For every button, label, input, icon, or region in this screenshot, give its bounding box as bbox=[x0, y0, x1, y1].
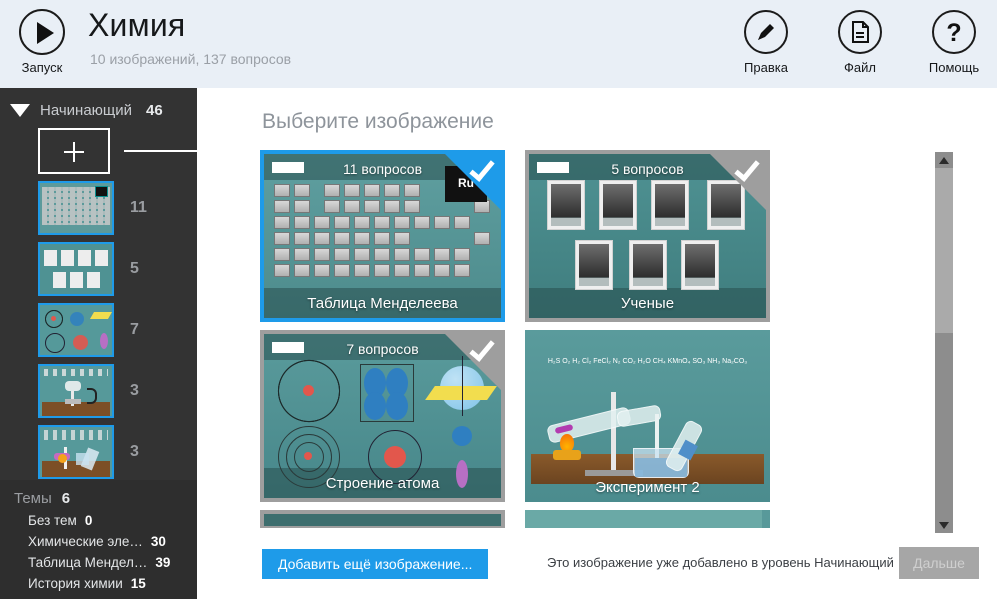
list-item[interactable]: 3 bbox=[0, 418, 197, 479]
svg-text:?: ? bbox=[946, 19, 961, 47]
triangle-down-icon[interactable] bbox=[10, 104, 30, 117]
image-card-partial[interactable] bbox=[525, 510, 770, 528]
theme-row[interactable]: Таблица Мендел… 39 bbox=[14, 555, 197, 570]
theme-value: 30 bbox=[151, 534, 166, 549]
edit-label: Правка bbox=[731, 60, 801, 75]
image-grid: Ru 11 вопросов Таблица Менделеева bbox=[260, 150, 790, 598]
play-icon[interactable] bbox=[19, 9, 65, 55]
thumbnail-count: 3 bbox=[130, 382, 139, 400]
thumbnail-experiment-1[interactable] bbox=[38, 364, 114, 418]
thumbnail-count: 5 bbox=[130, 260, 139, 278]
thumbnail-count: 3 bbox=[130, 443, 139, 461]
question-icon: ? bbox=[931, 9, 977, 55]
list-item[interactable]: 11 bbox=[0, 174, 197, 235]
theme-row[interactable]: Химические эле… 30 bbox=[14, 534, 197, 549]
added-check-ribbon bbox=[445, 334, 501, 390]
themes-count: 6 bbox=[62, 490, 70, 507]
theme-value: 39 bbox=[155, 555, 170, 570]
main-content: Выберите изображение bbox=[197, 88, 997, 599]
add-image-thumb[interactable] bbox=[0, 124, 197, 174]
scroll-up-arrow-icon[interactable] bbox=[935, 152, 953, 168]
section-title: Выберите изображение bbox=[262, 110, 494, 134]
page-subtitle: 10 изображений, 137 вопросов bbox=[90, 51, 291, 67]
list-item[interactable]: 7 bbox=[0, 296, 197, 357]
image-card-atom[interactable]: 7 вопросов Строение атома bbox=[260, 330, 505, 502]
file-icon bbox=[837, 9, 883, 55]
page-title: Химия bbox=[88, 7, 185, 44]
theme-row[interactable]: История химии 15 bbox=[14, 576, 197, 591]
thumbnail-experiment-2[interactable] bbox=[38, 425, 114, 479]
thumbnail-count: 7 bbox=[130, 321, 139, 339]
theme-label: Химические эле… bbox=[28, 534, 143, 549]
help-button[interactable]: ? Помощь bbox=[919, 9, 989, 75]
formula-list: H₂S O₂ H₂ Cl₂ FeCl₂ N₂ CO₂ H₂O CH₄ KMnO₄… bbox=[533, 356, 762, 368]
level-header[interactable]: Начинающий 46 bbox=[0, 88, 197, 124]
app-window: Запуск Химия 10 изображений, 137 вопросо… bbox=[0, 0, 997, 599]
file-label: Файл bbox=[825, 60, 895, 75]
themes-panel: Темы 6 Без тем 0 Химические эле… 30 Табл… bbox=[0, 480, 197, 599]
card-title: Эксперимент 2 bbox=[525, 479, 770, 496]
footer-bar: Добавить ещё изображение... Это изображе… bbox=[197, 533, 997, 599]
theme-label: Без тем bbox=[28, 513, 77, 528]
level-count: 46 bbox=[146, 102, 163, 119]
theme-value: 15 bbox=[131, 576, 146, 591]
launch-button[interactable]: Запуск bbox=[14, 9, 70, 75]
thumbnail-periodic[interactable] bbox=[38, 181, 114, 235]
theme-value: 0 bbox=[85, 513, 93, 528]
level-name: Начинающий bbox=[40, 102, 132, 119]
theme-label: Таблица Мендел… bbox=[28, 555, 147, 570]
themes-header: Темы 6 bbox=[14, 490, 197, 507]
list-item[interactable]: 5 bbox=[0, 235, 197, 296]
theme-label: История химии bbox=[28, 576, 123, 591]
thumbnail-atom[interactable] bbox=[38, 303, 114, 357]
launch-label: Запуск bbox=[14, 60, 70, 75]
card-title: Строение атома bbox=[264, 475, 501, 492]
header-toolbar: Правка Файл ? Помощь bbox=[731, 9, 989, 75]
theme-row[interactable]: Без тем 0 bbox=[14, 513, 197, 528]
image-card-experiment-2[interactable]: H₂S O₂ H₂ Cl₂ FeCl₂ N₂ CO₂ H₂O CH₄ KMnO₄… bbox=[525, 330, 770, 502]
status-message: Это изображение уже добавлено в уровень … bbox=[547, 555, 894, 570]
scroll-down-arrow-icon[interactable] bbox=[935, 517, 953, 533]
card-title: Ученые bbox=[529, 295, 766, 312]
pencil-icon bbox=[743, 9, 789, 55]
image-card-partial[interactable] bbox=[260, 510, 505, 528]
list-item[interactable]: 3 bbox=[0, 357, 197, 418]
themes-title: Темы bbox=[14, 490, 52, 507]
next-button[interactable]: Дальше bbox=[899, 547, 979, 579]
file-button[interactable]: Файл bbox=[825, 9, 895, 75]
selected-check-ribbon bbox=[445, 154, 501, 210]
app-header: Запуск Химия 10 изображений, 137 вопросо… bbox=[0, 0, 997, 88]
thumbnail-scientists[interactable] bbox=[38, 242, 114, 296]
added-check-ribbon bbox=[710, 154, 766, 210]
scrollbar-thumb[interactable] bbox=[935, 168, 953, 333]
main-scrollbar[interactable] bbox=[935, 152, 953, 533]
thumbnail-count: 11 bbox=[130, 199, 147, 217]
add-image-button[interactable]: Добавить ещё изображение... bbox=[262, 549, 488, 579]
edit-button[interactable]: Правка bbox=[731, 9, 801, 75]
card-title: Таблица Менделеева bbox=[264, 295, 501, 312]
image-card-scientists[interactable]: 5 вопросов Ученые bbox=[525, 150, 770, 322]
plus-icon[interactable] bbox=[38, 128, 110, 174]
image-card-periodic[interactable]: Ru 11 вопросов Таблица Менделеева bbox=[260, 150, 505, 322]
divider-line bbox=[124, 150, 197, 152]
help-label: Помощь bbox=[919, 60, 989, 75]
